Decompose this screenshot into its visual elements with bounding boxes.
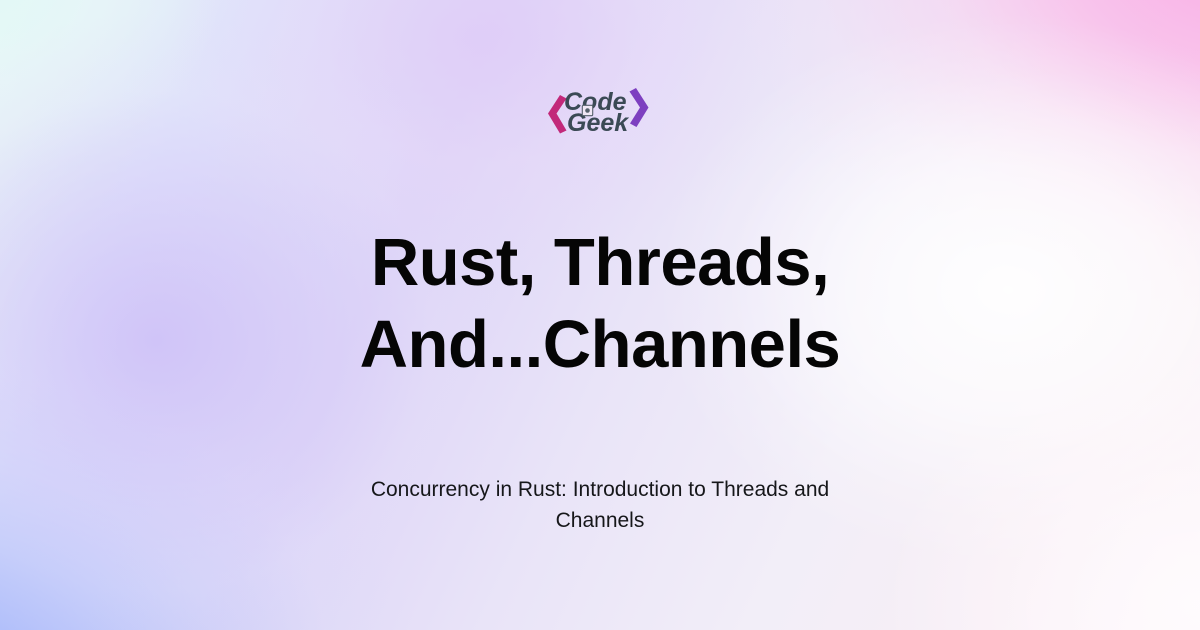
page-subtitle: Concurrency in Rust: Introduction to Thr… xyxy=(0,474,1200,536)
logo-word-geek: Geek xyxy=(567,109,629,137)
codegeek-logo: Code Geek xyxy=(544,82,656,140)
gear-icon xyxy=(582,105,592,115)
page-title: Rust, Threads, And...Channels xyxy=(0,222,1200,386)
brand-logo-container: Code Geek xyxy=(0,82,1200,140)
card-content: Code Geek Rust, Threads, And...Channels … xyxy=(0,0,1200,630)
social-share-card: Code Geek Rust, Threads, And...Channels … xyxy=(0,0,1200,630)
bracket-right-icon xyxy=(630,88,649,127)
